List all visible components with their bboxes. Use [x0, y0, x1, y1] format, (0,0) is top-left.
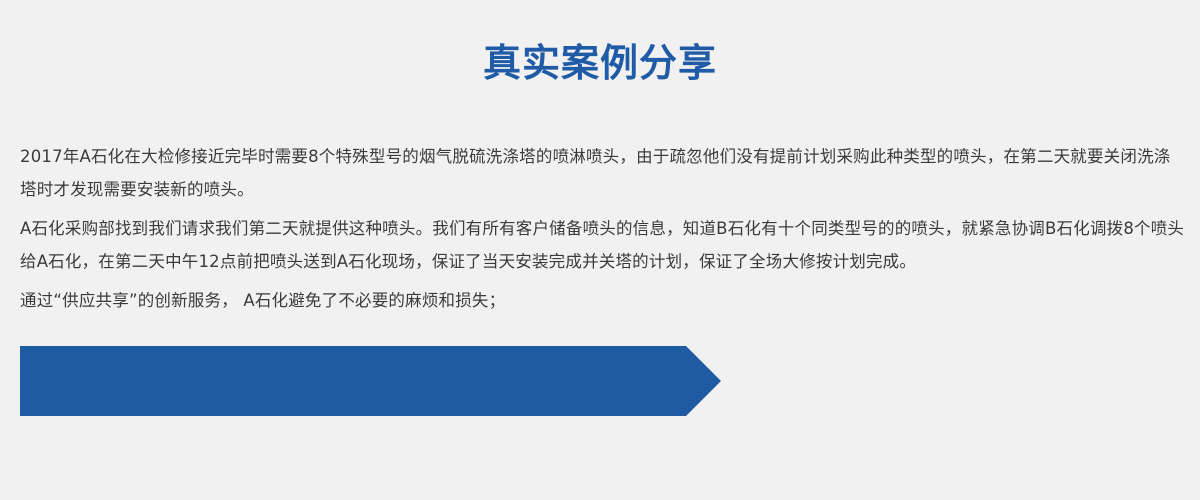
- body-copy-block: 2017年A石化在大检修接近完毕时需要8个特殊型号的烟气脱硫洗涤塔的喷淋喷头，由…: [20, 140, 1185, 317]
- page-title: 真实案例分享: [0, 39, 1200, 87]
- body-paragraph-3: 通过“供应共享”的创新服务， A石化避免了不必要的麻烦和损失；: [20, 284, 1185, 317]
- body-paragraph-2: A石化采购部找到我们请求我们第二天就提供这种喷头。我们有所有客户储备喷头的信息，…: [20, 212, 1185, 278]
- body-paragraph-1: 2017年A石化在大检修接近完毕时需要8个特殊型号的烟气脱硫洗涤塔的喷淋喷头，由…: [20, 140, 1185, 206]
- slide-canvas: 真实案例分享 2017年A石化在大检修接近完毕时需要8个特殊型号的烟气脱硫洗涤塔…: [0, 0, 1200, 500]
- arrow-banner: [20, 346, 721, 416]
- right-arrow-icon: [20, 346, 721, 416]
